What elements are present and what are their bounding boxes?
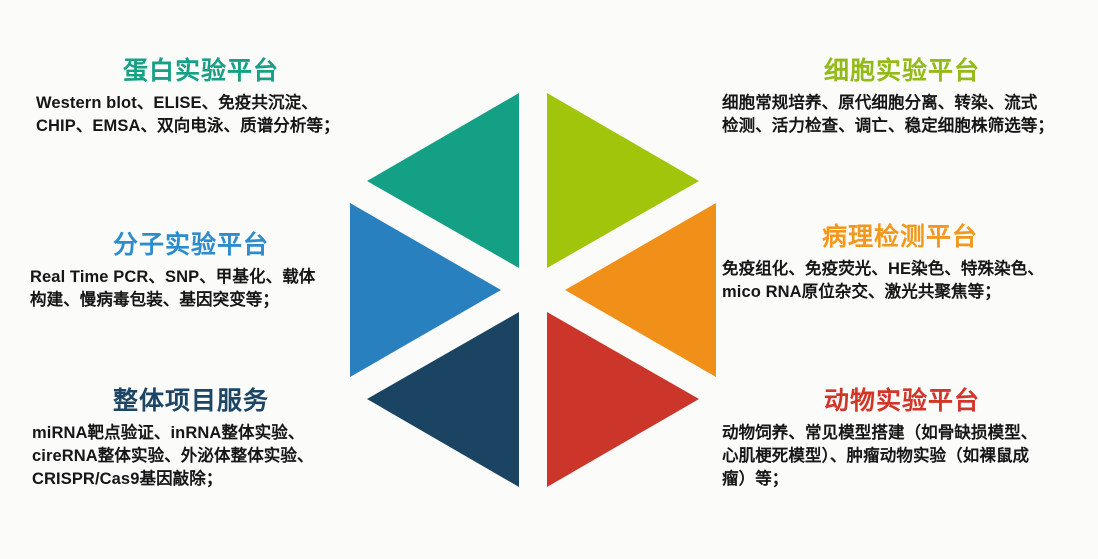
infographic-canvas: 蛋白实验平台 Western blot、ELISE、免疫共沉淀、 CHIP、EM… bbox=[0, 0, 1098, 559]
panel-protein-title: 蛋白实验平台 bbox=[36, 58, 366, 86]
panel-protein: 蛋白实验平台 Western blot、ELISE、免疫共沉淀、 CHIP、EM… bbox=[36, 58, 366, 138]
panel-animal: 动物实验平台 动物饲养、常见模型搭建（如骨缺损模型、 心肌梗死模型）、肿瘤动物实… bbox=[722, 388, 1082, 492]
panel-overall: 整体项目服务 miRNA靶点验证、inRNA整体实验、 cireRNA整体实验、… bbox=[32, 388, 350, 492]
panel-molecular: 分子实验平台 Real Time PCR、SNP、甲基化、载体 构建、慢病毒包装… bbox=[30, 232, 352, 312]
panel-overall-body: miRNA靶点验证、inRNA整体实验、 cireRNA整体实验、外泌体整体实验… bbox=[32, 422, 350, 492]
panel-molecular-title: 分子实验平台 bbox=[30, 232, 352, 260]
panel-cell-title: 细胞实验平台 bbox=[722, 58, 1082, 86]
panel-pathology: 病理检测平台 免疫组化、免疫荧光、HE染色、特殊染色、 mico RNA原位杂交… bbox=[722, 224, 1078, 304]
panel-animal-body: 动物饲养、常见模型搭建（如骨缺损模型、 心肌梗死模型）、肿瘤动物实验（如裸鼠成 … bbox=[722, 422, 1082, 492]
panel-overall-title: 整体项目服务 bbox=[32, 388, 350, 416]
panel-molecular-body: Real Time PCR、SNP、甲基化、载体 构建、慢病毒包装、基因突变等； bbox=[30, 266, 352, 313]
panel-pathology-title: 病理检测平台 bbox=[722, 224, 1078, 252]
panel-protein-body: Western blot、ELISE、免疫共沉淀、 CHIP、EMSA、双向电泳… bbox=[36, 92, 366, 139]
panel-cell: 细胞实验平台 细胞常规培养、原代细胞分离、转染、流式 检测、活力检查、调亡、稳定… bbox=[722, 58, 1082, 138]
panel-animal-title: 动物实验平台 bbox=[722, 388, 1082, 416]
panel-pathology-body: 免疫组化、免疫荧光、HE染色、特殊染色、 mico RNA原位杂交、激光共聚焦等… bbox=[722, 258, 1078, 305]
panel-cell-body: 细胞常规培养、原代细胞分离、转染、流式 检测、活力检查、调亡、稳定细胞株筛选等； bbox=[722, 92, 1082, 139]
